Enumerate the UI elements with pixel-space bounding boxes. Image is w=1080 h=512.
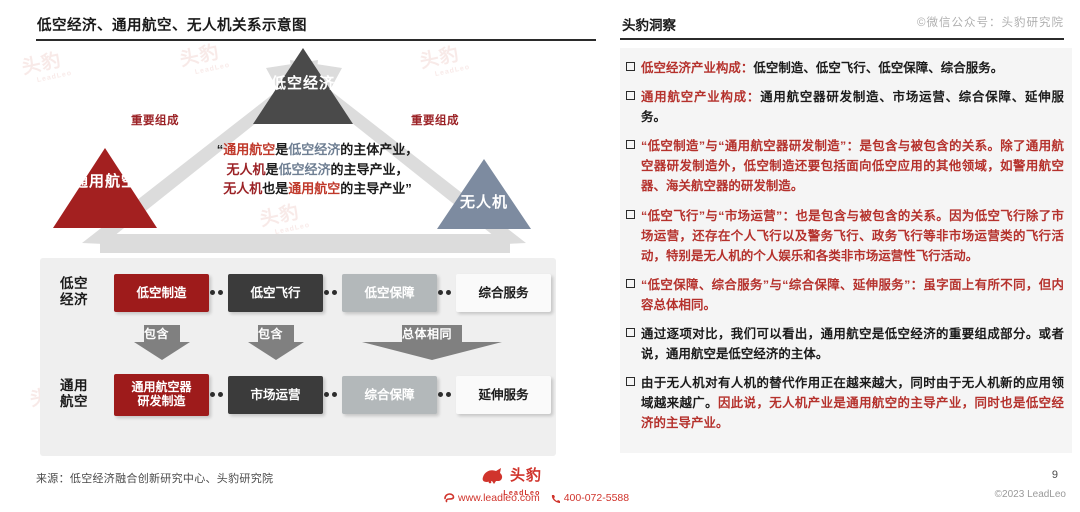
relation-label-right: 重要组成 [411, 112, 459, 128]
bullet-item: 通过逐项对比，我们可以看出，通用航空是低空经济的重要组成部分。或者说，通用航空是… [626, 324, 1064, 364]
quote-line-2: 无人机是低空经济的主导产业， [180, 160, 455, 180]
bullet-text-part: 低空制造、低空飞行、低空保障、综合服务。 [753, 61, 1003, 75]
quote-line-3: 无人机也是通用航空的主导产业” [180, 179, 455, 199]
chip-extended-service[interactable]: 延伸服务 [456, 376, 551, 414]
triangle-label-low-altitude-economy: 低空经济 [253, 75, 353, 92]
chip-comprehensive-service[interactable]: 综合服务 [456, 274, 551, 312]
title-divider [36, 39, 596, 41]
phone-text: 400-072-5588 [564, 492, 629, 504]
page-title: 低空经济、通用航空、无人机关系示意图 [37, 14, 307, 35]
insight-divider [620, 38, 1064, 40]
phone-item[interactable]: 400-072-5588 [550, 492, 629, 504]
bullet-square-icon [626, 62, 635, 71]
bullet-square-icon [626, 91, 635, 100]
bullet-text: “低空制造”与“通用航空器研发制造”：是包含与被包含的关系。除了通用航空器研发制… [641, 136, 1064, 196]
bullet-text-part: 低空经济产业构成： [641, 61, 753, 75]
row-label-low-altitude-economy: 低空 经济 [54, 276, 94, 308]
bullet-text: 通过逐项对比，我们可以看出，通用航空是低空经济的重要组成部分。或者说，通用航空是… [641, 324, 1064, 364]
chip-low-altitude-manufacturing[interactable]: 低空制造 [114, 274, 209, 312]
bullet-text: 由于无人机对有人机的替代作用正在越来越大，同时由于无人机新的应用领域越来越广。因… [641, 373, 1064, 433]
bullet-item: 通用航空产业构成：通用航空器研发制造、市场运营、综合保障、延伸服务。 [626, 87, 1064, 127]
bullet-text-part: 通用航空产业构成： [641, 90, 760, 104]
bullet-square-icon [626, 279, 635, 288]
chip-market-operation[interactable]: 市场运营 [228, 376, 323, 414]
browser-icon [444, 493, 455, 504]
bullet-text: “低空保障、综合服务”与“综合保障、延伸服务”：虽字面上有所不同，但内容总体相同… [641, 275, 1064, 315]
connector-dots [438, 290, 451, 295]
arrow-contains-2: 包含 [248, 325, 304, 360]
copyright-text: ©2023 LeadLeo [995, 489, 1066, 500]
relation-label-left: 重要组成 [131, 112, 179, 128]
bullet-item: 由于无人机对有人机的替代作用正在越来越大，同时由于无人机新的应用领域越来越广。因… [626, 373, 1064, 433]
contact-bar: www.leadleo.com 400-072-5588 [444, 492, 629, 504]
logo-text-cn: 头豹 [510, 464, 542, 485]
connector-dots [210, 290, 223, 295]
bullet-text: 通用航空产业构成：通用航空器研发制造、市场运营、综合保障、延伸服务。 [641, 87, 1064, 127]
bullet-item: “低空保障、综合服务”与“综合保障、延伸服务”：虽字面上有所不同，但内容总体相同… [626, 275, 1064, 315]
leopard-icon [480, 465, 506, 485]
bullet-text-part: “低空保障、综合服务”与“综合保障、延伸服务”：虽字面上有所不同，但内容总体相同… [641, 278, 1064, 312]
slide-page: 头豹LeadLeo 头豹LeadLeo 头豹LeadLeo 头豹LeadLeo … [0, 0, 1080, 512]
connector-dots [210, 392, 223, 397]
bullet-text: “低空飞行”与“市场运营”：也是包含与被包含的关系。因为低空飞行除了市场运营，还… [641, 206, 1064, 266]
connector-dots [324, 290, 337, 295]
row-label-general-aviation: 通用 航空 [54, 378, 94, 410]
bullet-text-part: “低空飞行”与“市场运营”：也是包含与被包含的关系。因为低空飞行除了市场运营，还… [641, 209, 1064, 263]
chip-comprehensive-support[interactable]: 综合保障 [342, 376, 437, 414]
triangle-label-general-aviation: 通用航空 [55, 173, 155, 190]
arrow-contains-1: 包含 [134, 325, 190, 360]
arrow-overall-same: 总体相同 [362, 325, 502, 360]
connector-dots [324, 392, 337, 397]
phone-icon [550, 493, 561, 504]
bullet-text-part: 通过逐项对比，我们可以看出，通用航空是低空经济的重要组成部分。或者说，通用航空是… [641, 327, 1064, 361]
relationship-quote: “通用航空是低空经济的主体产业， 无人机是低空经济的主导产业， 无人机也是通用航… [180, 140, 455, 199]
source-note: 来源：低空经济融合创新研究中心、头豹研究院 [36, 470, 273, 486]
website-item[interactable]: www.leadleo.com [444, 492, 540, 504]
wechat-watermark: ©微信公众号：头豹研究院 [917, 14, 1064, 30]
connector-dots [438, 392, 451, 397]
insight-bullet-list: 低空经济产业构成：低空制造、低空飞行、低空保障、综合服务。通用航空产业构成：通用… [620, 48, 1072, 453]
bullet-square-icon [626, 140, 635, 149]
bullet-square-icon [626, 328, 635, 337]
bullet-item: “低空制造”与“通用航空器研发制造”：是包含与被包含的关系。除了通用航空器研发制… [626, 136, 1064, 196]
page-number: 9 [1052, 469, 1058, 481]
website-text: www.leadleo.com [458, 492, 540, 504]
bullet-item: 低空经济产业构成：低空制造、低空飞行、低空保障、综合服务。 [626, 58, 1064, 78]
bullet-text: 低空经济产业构成：低空制造、低空飞行、低空保障、综合服务。 [641, 58, 1003, 78]
chip-low-altitude-support[interactable]: 低空保障 [342, 274, 437, 312]
bullet-item: “低空飞行”与“市场运营”：也是包含与被包含的关系。因为低空飞行除了市场运营，还… [626, 206, 1064, 266]
insight-title: 头豹洞察 [622, 14, 676, 34]
chip-ga-aircraft-rnd-manufacturing[interactable]: 通用航空器 研发制造 [114, 374, 209, 416]
bullet-square-icon [626, 377, 635, 386]
chip-low-altitude-flight[interactable]: 低空飞行 [228, 274, 323, 312]
bullet-text-part: “低空制造”与“通用航空器研发制造”：是包含与被包含的关系。除了通用航空器研发制… [641, 139, 1064, 193]
bullet-square-icon [626, 210, 635, 219]
quote-line-1: “通用航空是低空经济的主体产业， [180, 140, 455, 160]
